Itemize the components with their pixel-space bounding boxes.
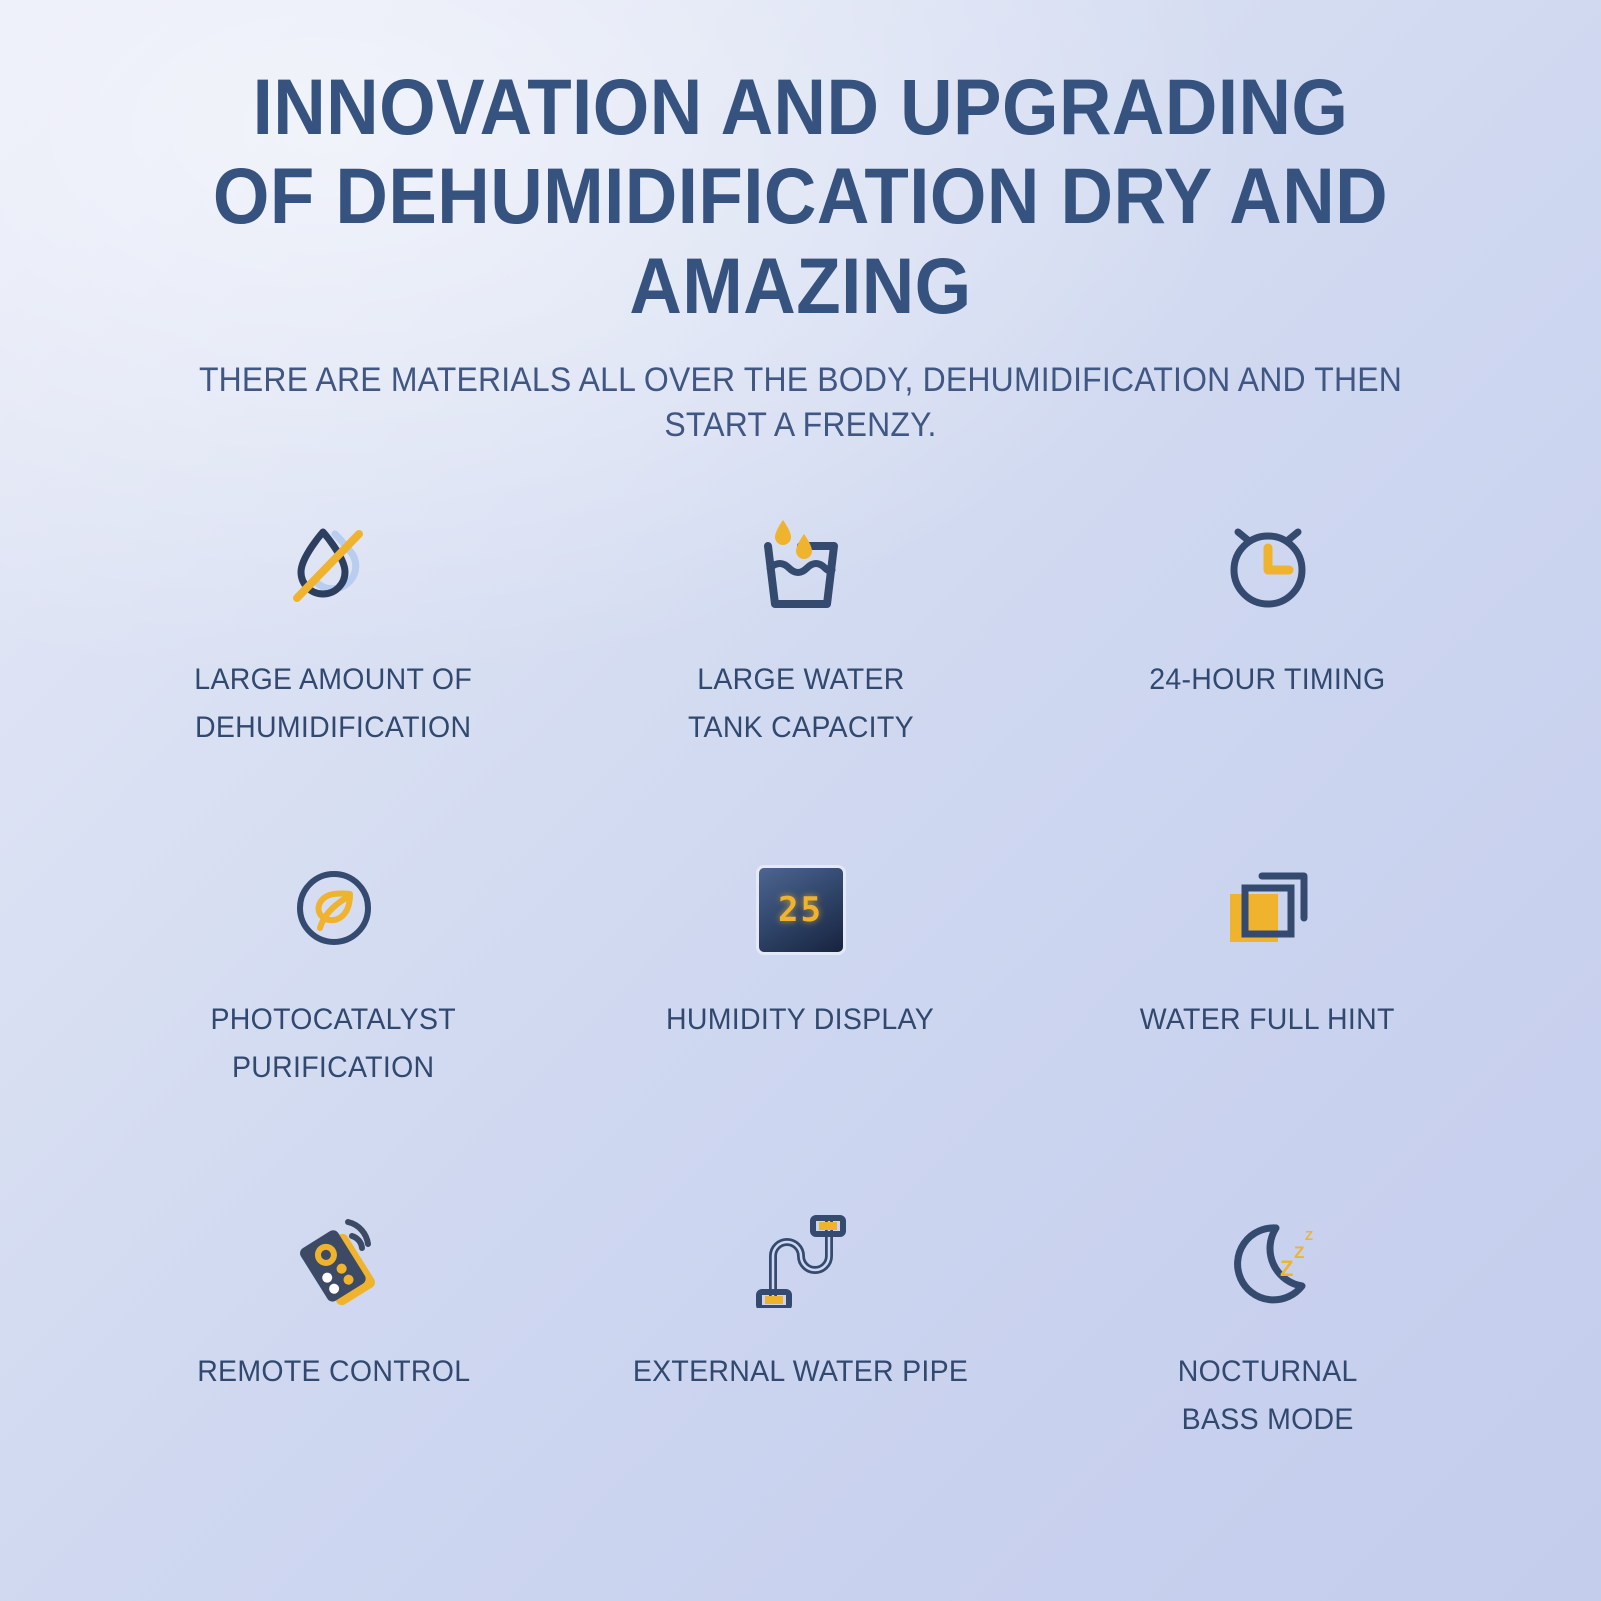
feature-label: 24-HOUR TIMING — [1149, 656, 1385, 703]
feature-item-humidity-display: 25 HUMIDITY DISPLAY — [567, 848, 1034, 1196]
subtitle-line: START A FRENZY. — [48, 403, 1553, 448]
moon-zzz-icon: Z Z Z — [1214, 1208, 1322, 1313]
icon-container — [751, 1196, 851, 1324]
icon-container — [282, 1196, 386, 1324]
feature-label-line: PURIFICATION — [211, 1044, 456, 1091]
feature-label: LARGE WATER TANK CAPACITY — [688, 656, 914, 751]
feature-label: PHOTOCATALYST PURIFICATION — [211, 996, 456, 1091]
alarm-clock-icon — [1216, 512, 1320, 621]
page-subtitle: THERE ARE MATERIALS ALL OVER THE BODY, D… — [48, 358, 1553, 448]
remote-control-icon — [282, 1208, 386, 1313]
feature-label-line: LARGE AMOUNT OF — [195, 656, 473, 703]
svg-text:Z: Z — [1305, 1228, 1313, 1243]
humidity-display-icon: 25 — [759, 868, 843, 952]
feature-label-line: REMOTE CONTROL — [197, 1348, 470, 1395]
feature-label-line: HUMIDITY DISPLAY — [667, 996, 935, 1043]
feature-item-dehumidification: LARGE AMOUNT OF DEHUMIDIFICATION — [100, 500, 567, 848]
feature-item-photocatalyst: PHOTOCATALYST PURIFICATION — [100, 848, 567, 1196]
feature-label: LARGE AMOUNT OF DEHUMIDIFICATION — [195, 656, 473, 751]
feature-item-water-full-hint: WATER FULL HINT — [1034, 848, 1501, 1196]
feature-label-line: NOCTURNAL — [1178, 1348, 1358, 1395]
title-line: AMAZING — [64, 241, 1537, 330]
feature-label-line: WATER FULL HINT — [1140, 996, 1395, 1043]
subtitle-line: THERE ARE MATERIALS ALL OVER THE BODY, D… — [48, 358, 1553, 403]
icon-container — [748, 500, 854, 632]
leaf-circle-icon — [288, 862, 380, 959]
feature-label: NOCTURNAL BASS MODE — [1178, 1348, 1358, 1443]
water-tank-icon — [748, 512, 854, 621]
feature-label: HUMIDITY DISPLAY — [667, 996, 935, 1043]
feature-item-nocturnal-mode: Z Z Z NOCTURNAL BASS MODE — [1034, 1196, 1501, 1544]
page-title: INNOVATION AND UPGRADING OF DEHUMIDIFICA… — [64, 62, 1537, 330]
feature-label: EXTERNAL WATER PIPE — [633, 1348, 968, 1395]
water-pipe-icon — [751, 1208, 851, 1313]
feature-item-water-tank: LARGE WATER TANK CAPACITY — [567, 500, 1034, 848]
icon-container — [1218, 848, 1318, 972]
svg-text:Z: Z — [1294, 1243, 1304, 1262]
humidity-value: 25 — [778, 890, 823, 930]
infographic-page: INNOVATION AND UPGRADING OF DEHUMIDIFICA… — [0, 0, 1601, 1601]
icon-container — [279, 500, 389, 632]
feature-label-line: LARGE WATER — [688, 656, 914, 703]
feature-label-line: 24-HOUR TIMING — [1149, 656, 1385, 703]
icon-container — [288, 848, 380, 972]
svg-text:Z: Z — [1280, 1256, 1293, 1281]
feature-label-line: TANK CAPACITY — [688, 704, 914, 751]
feature-item-timing: 24-HOUR TIMING — [1034, 500, 1501, 848]
icon-container: 25 — [759, 848, 843, 972]
feature-label-line: PHOTOCATALYST — [211, 996, 456, 1043]
title-line: INNOVATION AND UPGRADING — [64, 62, 1537, 151]
feature-grid: LARGE AMOUNT OF DEHUMIDIFICATION LARGE W… — [0, 500, 1601, 1544]
feature-label: WATER FULL HINT — [1140, 996, 1395, 1043]
feature-label-line: DEHUMIDIFICATION — [195, 704, 473, 751]
feature-label-line: BASS MODE — [1178, 1396, 1358, 1443]
feature-label-line: EXTERNAL WATER PIPE — [633, 1348, 968, 1395]
dehumidify-drop-slash-icon — [279, 512, 389, 621]
title-line: OF DEHUMIDIFICATION DRY AND — [64, 151, 1537, 240]
icon-container: Z Z Z — [1214, 1196, 1322, 1324]
icon-container — [1216, 500, 1320, 632]
stacked-squares-icon — [1218, 860, 1318, 961]
feature-item-water-pipe: EXTERNAL WATER PIPE — [567, 1196, 1034, 1544]
feature-label: REMOTE CONTROL — [197, 1348, 470, 1395]
header: INNOVATION AND UPGRADING OF DEHUMIDIFICA… — [0, 0, 1601, 448]
feature-item-remote-control: REMOTE CONTROL — [100, 1196, 567, 1544]
